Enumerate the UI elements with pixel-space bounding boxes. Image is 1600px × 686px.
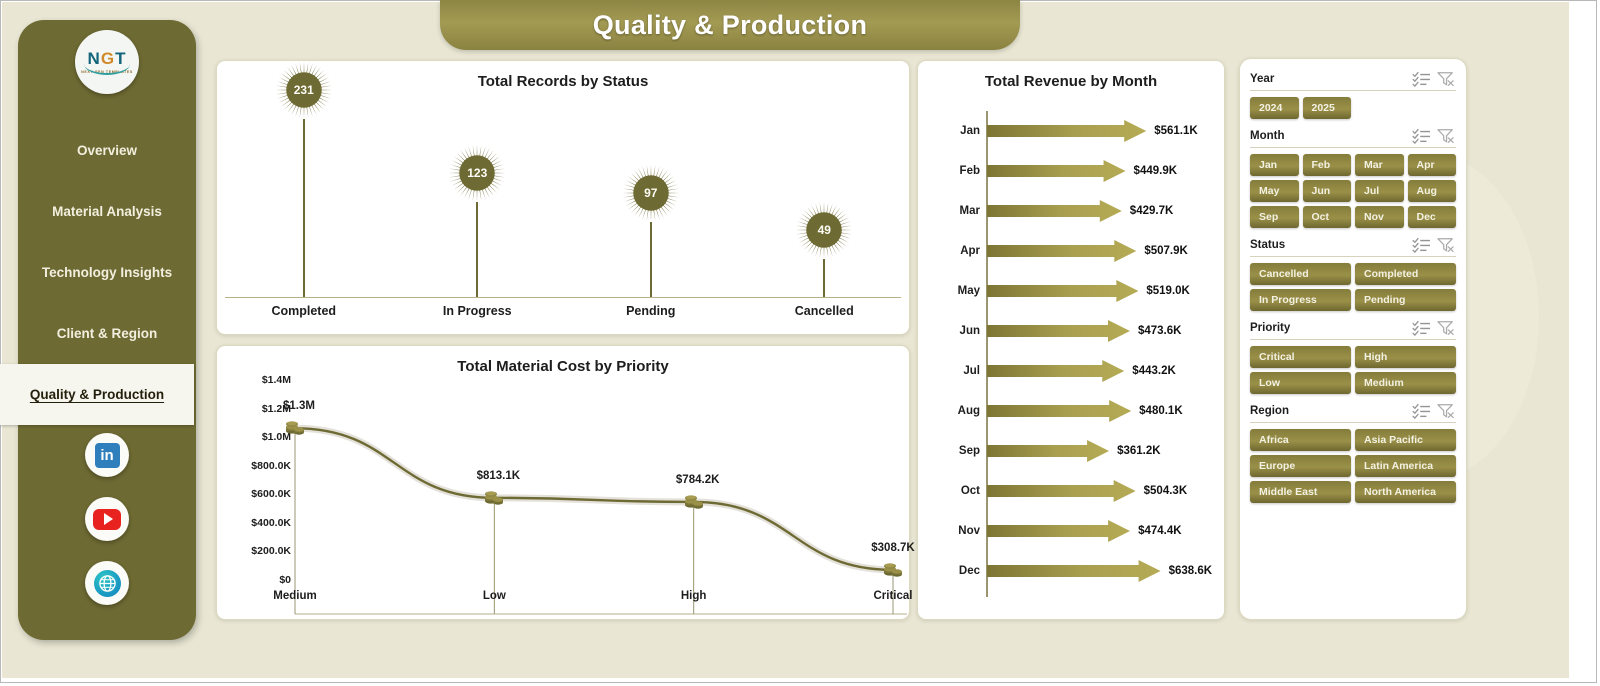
revenue-row: Sep $361.2K <box>918 431 1224 471</box>
starburst-icon: 97 <box>622 164 680 222</box>
filter-tile-asia-pacific[interactable]: Asia Pacific <box>1355 429 1456 451</box>
filter-tile-high[interactable]: High <box>1355 346 1456 368</box>
coin-stack-icon <box>284 419 306 437</box>
sidebar-item-overview[interactable]: Overview <box>18 120 196 181</box>
revenue-arrow-bar <box>987 520 1130 542</box>
filter-tile-cancelled[interactable]: Cancelled <box>1250 263 1351 285</box>
lollipop-stem <box>303 119 305 297</box>
revenue-value-label: $519.0K <box>1146 285 1189 297</box>
filter-tile-latin-america[interactable]: Latin America <box>1355 455 1456 477</box>
revenue-row: Jun $473.6K <box>918 311 1224 351</box>
filter-tile-sep[interactable]: Sep <box>1250 206 1299 228</box>
revenue-value-label: $480.1K <box>1139 405 1182 417</box>
multi-select-icon[interactable] <box>1412 128 1432 144</box>
filter-tile-completed[interactable]: Completed <box>1355 263 1456 285</box>
lollipop-axis <box>225 297 901 298</box>
revenue-month-label: Apr <box>928 245 980 257</box>
filter-tile-feb[interactable]: Feb <box>1303 154 1352 176</box>
revenue-arrow-bar <box>987 320 1130 342</box>
lollipop-category-label: Cancelled <box>744 304 904 318</box>
lollipop-stem <box>650 222 652 297</box>
linkedin-button[interactable]: in <box>85 433 129 477</box>
clear-filter-icon[interactable] <box>1436 320 1456 336</box>
filter-group-region: Region AfricaAsia PacificEuropeLatin Ame… <box>1250 403 1456 503</box>
revenue-month-label: Nov <box>928 525 980 537</box>
sidebar-item-label: Client & Region <box>57 326 158 341</box>
dashboard-app: Quality & Production NGT NEXT GEN TEMPLA… <box>0 0 1600 686</box>
revenue-value-label: $449.9K <box>1134 165 1177 177</box>
header-banner: Quality & Production <box>440 0 1020 50</box>
logo: NGT NEXT GEN TEMPLATES <box>75 30 139 94</box>
sidebar: NGT NEXT GEN TEMPLATES OverviewMaterial … <box>18 20 196 640</box>
lollipop-category-label: Pending <box>571 304 731 318</box>
filter-tile-nov[interactable]: Nov <box>1355 206 1404 228</box>
revenue-value-label: $474.4K <box>1138 525 1181 537</box>
clear-filter-icon[interactable] <box>1436 71 1456 87</box>
revenue-month-label: Feb <box>928 165 980 177</box>
lollipop-value: 231 <box>275 61 333 119</box>
multi-select-icon[interactable] <box>1412 320 1432 336</box>
sidebar-item-label: Overview <box>77 143 137 158</box>
cost-line-svg <box>217 380 911 646</box>
filter-tiles: CriticalHighLowMedium <box>1250 346 1456 394</box>
lollipop-category-label: Completed <box>224 304 384 318</box>
revenue-row: May $519.0K <box>918 271 1224 311</box>
lollipop-category-label: In Progress <box>397 304 557 318</box>
filter-group-title: Month <box>1250 130 1408 142</box>
sidebar-item-client-region[interactable]: Client & Region <box>18 303 196 364</box>
revenue-row: Dec $638.6K <box>918 551 1224 591</box>
lollipop-value: 123 <box>448 144 506 202</box>
panel-total-revenue-by-month: Total Revenue by Month Jan $561.1KFeb $4… <box>917 60 1225 620</box>
revenue-row: Feb $449.9K <box>918 151 1224 191</box>
revenue-value-label: $473.6K <box>1138 325 1181 337</box>
youtube-icon <box>93 509 121 530</box>
sidebar-item-quality-production[interactable]: Quality & Production <box>0 364 194 425</box>
cost-category-label: High <box>624 590 764 602</box>
filter-tile-middle-east[interactable]: Middle East <box>1250 481 1351 503</box>
filter-group-title: Region <box>1250 405 1408 417</box>
filter-tile-may[interactable]: May <box>1250 180 1299 202</box>
revenue-row: Jul $443.2K <box>918 351 1224 391</box>
lollipop-value: 49 <box>795 201 853 259</box>
filter-tile-in-progress[interactable]: In Progress <box>1250 289 1351 311</box>
page-title: Quality & Production <box>593 10 868 41</box>
filter-group-year: Year 20242025 <box>1250 71 1456 119</box>
filter-tile-jan[interactable]: Jan <box>1250 154 1299 176</box>
revenue-value-label: $507.9K <box>1144 245 1187 257</box>
revenue-month-label: Dec <box>928 565 980 577</box>
lollipop-marker: 231 <box>234 61 374 297</box>
revenue-rows: Jan $561.1KFeb $449.9KMar $429.7KApr $50… <box>918 111 1224 591</box>
multi-select-icon[interactable] <box>1412 403 1432 419</box>
filter-group-month: Month JanFebMarAprMayJunJulAugSepOctNovD… <box>1250 128 1456 228</box>
coin-stack-icon <box>483 489 505 507</box>
filter-tile-europe[interactable]: Europe <box>1250 455 1351 477</box>
filter-tile-mar[interactable]: Mar <box>1355 154 1404 176</box>
revenue-row: Nov $474.4K <box>918 511 1224 551</box>
revenue-month-label: May <box>928 285 980 297</box>
panel-total-material-cost-by-priority: Total Material Cost by Priority $1.4M$1.… <box>216 345 910 620</box>
coin-stack-icon <box>683 493 705 511</box>
filter-tile-apr[interactable]: Apr <box>1408 154 1457 176</box>
revenue-month-label: Jun <box>928 325 980 337</box>
revenue-arrow-bar <box>987 200 1122 222</box>
filter-group-status: Status CancelledCompletedIn ProgressPend… <box>1250 237 1456 311</box>
filter-group-priority: Priority CriticalHighLowMedium <box>1250 320 1456 394</box>
panel-total-records-by-status: Total Records by Status 2311239749 Compl… <box>216 60 910 335</box>
filter-tiles: 20242025 <box>1250 97 1456 119</box>
sidebar-item-label: Technology Insights <box>42 265 172 280</box>
coin-stack-icon <box>882 561 904 579</box>
filter-tile-2024[interactable]: 2024 <box>1250 97 1299 119</box>
revenue-value-label: $361.2K <box>1117 445 1160 457</box>
revenue-month-label: Jul <box>928 365 980 377</box>
filter-group-title: Priority <box>1250 322 1408 334</box>
filter-tile-jun[interactable]: Jun <box>1303 180 1352 202</box>
cost-value-label: $784.2K <box>676 474 719 486</box>
filter-group-title: Status <box>1250 239 1408 251</box>
clear-filter-icon[interactable] <box>1436 128 1456 144</box>
sidebar-item-technology-insights[interactable]: Technology Insights <box>18 242 196 303</box>
revenue-arrow-bar <box>987 560 1161 582</box>
revenue-row: Aug $480.1K <box>918 391 1224 431</box>
clear-filter-icon[interactable] <box>1436 403 1456 419</box>
filter-list: Year 20242025Month JanFebMarAprMayJunJul… <box>1240 59 1466 619</box>
revenue-month-label: Mar <box>928 205 980 217</box>
filter-tile-aug[interactable]: Aug <box>1408 180 1457 202</box>
filter-header: Priority <box>1250 320 1456 340</box>
lollipop-marker: 123 <box>407 144 547 297</box>
filter-tiles: JanFebMarAprMayJunJulAugSepOctNovDec <box>1250 154 1456 228</box>
filter-header: Region <box>1250 403 1456 423</box>
revenue-arrow-bar <box>987 480 1136 502</box>
panel-filters: Year 20242025Month JanFebMarAprMayJunJul… <box>1239 58 1467 620</box>
revenue-arrow-bar <box>987 240 1136 262</box>
youtube-button[interactable] <box>85 497 129 541</box>
revenue-value-label: $443.2K <box>1132 365 1175 377</box>
linkedin-icon: in <box>95 443 120 468</box>
filter-tile-north-america[interactable]: North America <box>1355 481 1456 503</box>
cost-value-label: $1.3M <box>283 400 315 412</box>
revenue-month-label: Aug <box>928 405 980 417</box>
filter-tile-critical[interactable]: Critical <box>1250 346 1351 368</box>
sidebar-socials: in <box>18 433 196 625</box>
cost-category-label: Low <box>424 590 564 602</box>
lollipop-stem <box>823 259 825 297</box>
filter-tile-jul[interactable]: Jul <box>1355 180 1404 202</box>
filter-header: Year <box>1250 71 1456 91</box>
lollipop-marker: 49 <box>754 201 894 297</box>
lollipop-value: 97 <box>622 164 680 222</box>
starburst-icon: 123 <box>448 144 506 202</box>
filter-tile-pending[interactable]: Pending <box>1355 289 1456 311</box>
lollipop-chart: 2311239749 <box>217 97 909 297</box>
starburst-icon: 231 <box>275 61 333 119</box>
cost-value-label: $813.1K <box>477 470 520 482</box>
cost-line-chart: $1.3M $813.1K $784.2K <box>217 380 909 612</box>
clear-filter-icon[interactable] <box>1436 237 1456 253</box>
multi-select-icon[interactable] <box>1412 71 1432 87</box>
filter-header: Month <box>1250 128 1456 148</box>
revenue-row: Jan $561.1K <box>918 111 1224 151</box>
sidebar-item-label: Material Analysis <box>52 204 162 219</box>
revenue-arrow-bar <box>987 280 1138 302</box>
revenue-arrow-bar <box>987 400 1131 422</box>
filter-tile-2025[interactable]: 2025 <box>1303 97 1352 119</box>
revenue-row: Apr $507.9K <box>918 231 1224 271</box>
cost-value-label: $308.7K <box>871 542 914 554</box>
revenue-value-label: $561.1K <box>1154 125 1197 137</box>
filter-tile-low[interactable]: Low <box>1250 372 1351 394</box>
filter-tiles: CancelledCompletedIn ProgressPending <box>1250 263 1456 311</box>
globe-icon <box>94 570 121 597</box>
sidebar-item-material-analysis[interactable]: Material Analysis <box>18 181 196 242</box>
filter-tile-africa[interactable]: Africa <box>1250 429 1351 451</box>
revenue-arrow-bar <box>987 120 1146 142</box>
filter-group-title: Year <box>1250 73 1408 85</box>
revenue-month-label: Jan <box>928 125 980 137</box>
revenue-arrow-bar <box>987 440 1109 462</box>
chart-title-cost: Total Material Cost by Priority <box>217 358 909 375</box>
filter-tile-oct[interactable]: Oct <box>1303 206 1352 228</box>
revenue-month-label: Oct <box>928 485 980 497</box>
revenue-row: Oct $504.3K <box>918 471 1224 511</box>
revenue-value-label: $429.7K <box>1130 205 1173 217</box>
revenue-arrow-bar <box>987 160 1126 182</box>
multi-select-icon[interactable] <box>1412 237 1432 253</box>
filter-tile-dec[interactable]: Dec <box>1408 206 1457 228</box>
revenue-value-label: $504.3K <box>1144 485 1187 497</box>
filter-tiles: AfricaAsia PacificEuropeLatin AmericaMid… <box>1250 429 1456 503</box>
revenue-arrow-bar <box>987 360 1124 382</box>
revenue-value-label: $638.6K <box>1169 565 1212 577</box>
cost-category-label: Medium <box>225 590 365 602</box>
revenue-month-label: Sep <box>928 445 980 457</box>
filter-tile-medium[interactable]: Medium <box>1355 372 1456 394</box>
lollipop-category-labels: CompletedIn ProgressPendingCancelled <box>217 304 909 330</box>
filter-header: Status <box>1250 237 1456 257</box>
revenue-row: Mar $429.7K <box>918 191 1224 231</box>
lollipop-stem <box>476 202 478 297</box>
website-button[interactable] <box>85 561 129 605</box>
sidebar-nav: OverviewMaterial AnalysisTechnology Insi… <box>18 120 196 425</box>
starburst-icon: 49 <box>795 201 853 259</box>
lollipop-marker: 97 <box>581 164 721 297</box>
sidebar-item-label: Quality & Production <box>30 387 164 402</box>
chart-title-revenue: Total Revenue by Month <box>918 73 1224 90</box>
